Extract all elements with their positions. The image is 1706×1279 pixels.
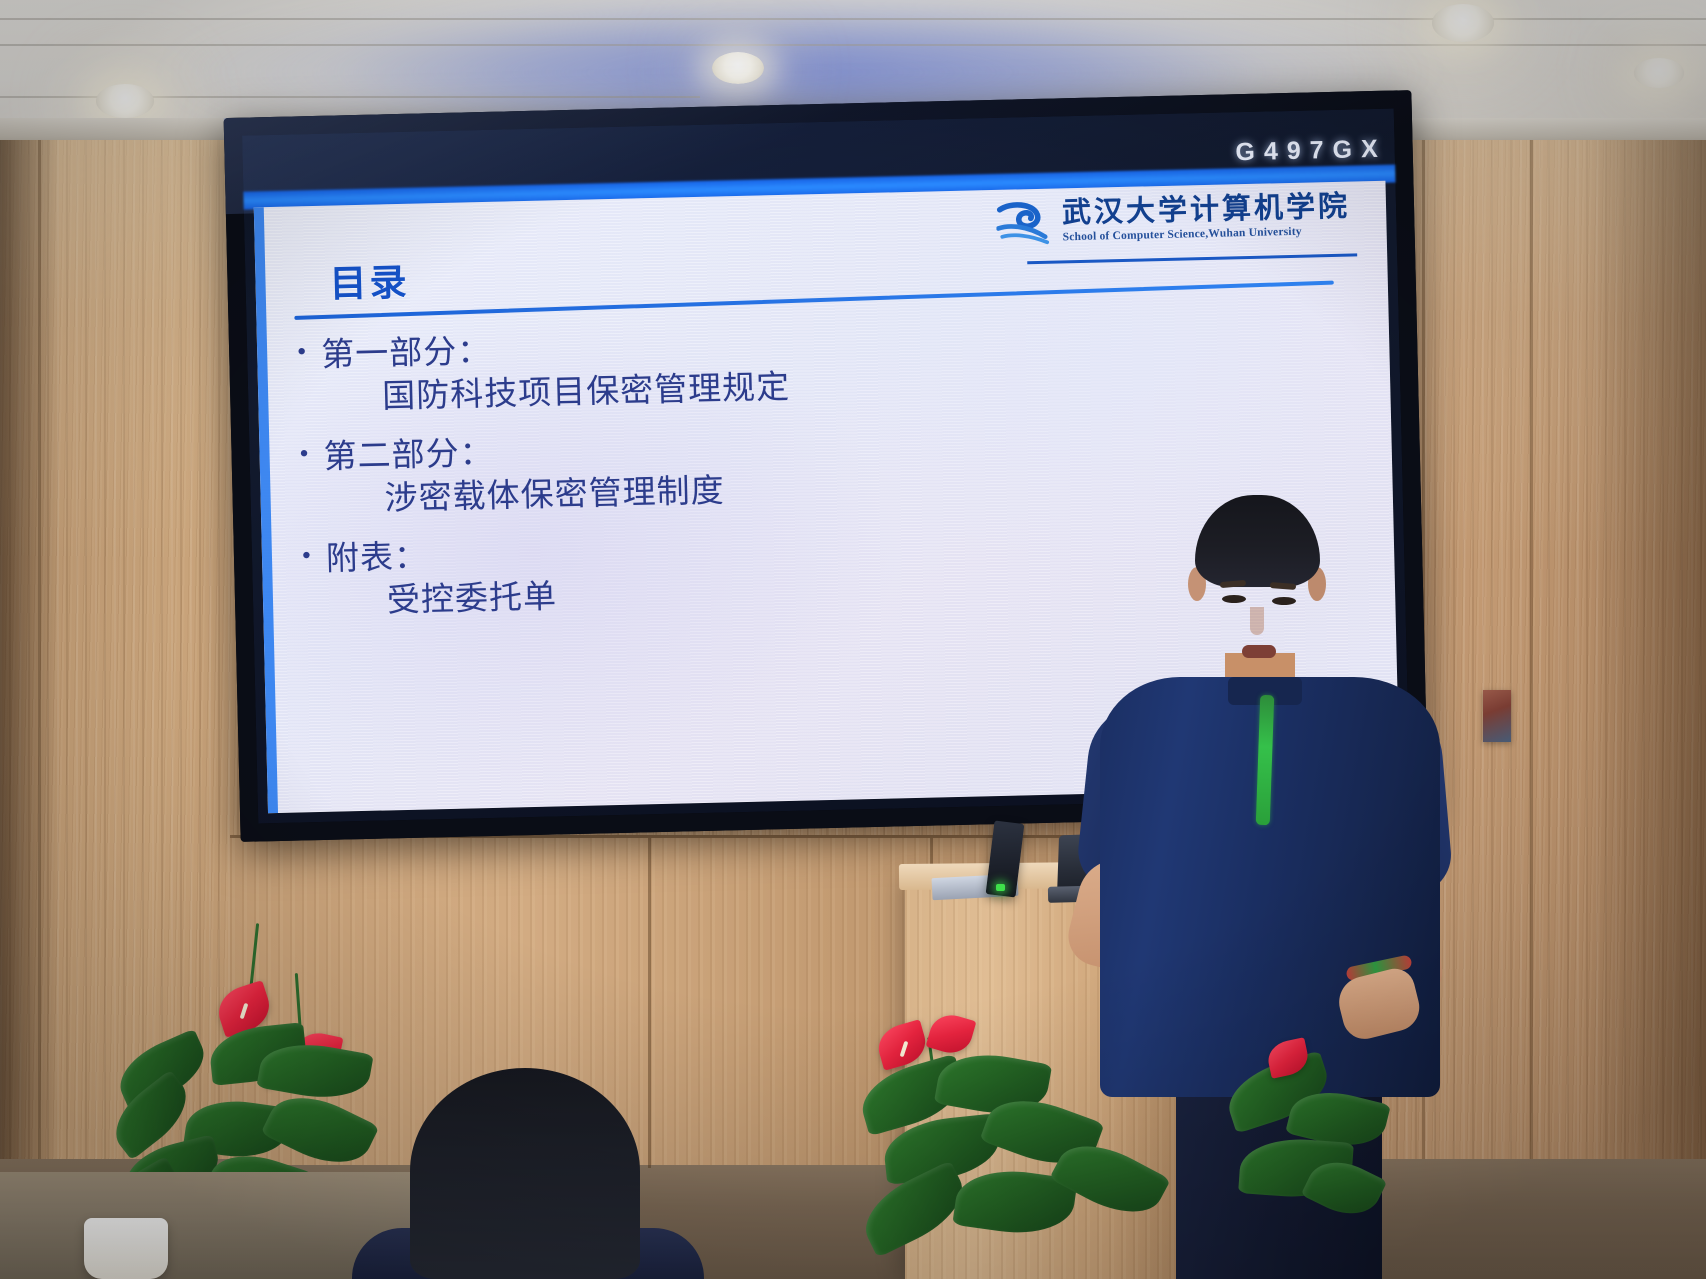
wall-panel-seam xyxy=(38,140,41,1279)
logo-text-block: 武汉大学计算机学院 School of Computer Science,Wuh… xyxy=(1062,192,1351,244)
bullet-dot-icon: • xyxy=(295,338,310,368)
anthurium-flower xyxy=(926,1010,977,1058)
anthurium-plant-right xyxy=(860,985,1380,1279)
logo-chinese-name: 武汉大学计算机学院 xyxy=(1062,192,1351,228)
bullet-label: 附表： xyxy=(326,539,429,574)
ceiling-downlight xyxy=(712,52,764,84)
presenter-hair xyxy=(1195,495,1320,587)
conference-room-photo: G497GX 武汉大学计算机学院 School of Computer Scie… xyxy=(0,0,1706,1279)
slide-title: 目录 xyxy=(329,252,410,308)
ceiling-downlight xyxy=(1432,4,1494,42)
framed-artwork xyxy=(1483,690,1511,742)
tablet-status-led xyxy=(996,884,1005,891)
ceiling-downlight xyxy=(1634,58,1684,88)
wall-panel-seam xyxy=(1530,140,1533,1279)
paper-cup xyxy=(84,1218,168,1279)
bullet-dot-icon: • xyxy=(297,440,312,470)
cabinet-seam xyxy=(648,838,651,1168)
wall-right-shadow xyxy=(1586,140,1706,1279)
presenter-nose xyxy=(1250,607,1264,635)
bullet-label: 第二部分： xyxy=(323,436,494,473)
university-logo: 武汉大学计算机学院 School of Computer Science,Wuh… xyxy=(996,192,1351,246)
bullet-label: 第一部分： xyxy=(321,334,492,371)
wave-logo-icon xyxy=(996,199,1053,246)
ceiling-groove xyxy=(0,44,1706,46)
ceiling-downlight xyxy=(96,84,154,118)
display-model-label: G497GX xyxy=(1235,135,1387,168)
presenter-mouth xyxy=(1242,645,1276,658)
presenter-right-eye xyxy=(1272,597,1296,605)
wall-left-shadow xyxy=(0,140,60,1279)
presenter-left-eye xyxy=(1222,595,1246,603)
seated-attendee-head xyxy=(410,1068,640,1279)
bullet-dot-icon: • xyxy=(300,542,315,572)
